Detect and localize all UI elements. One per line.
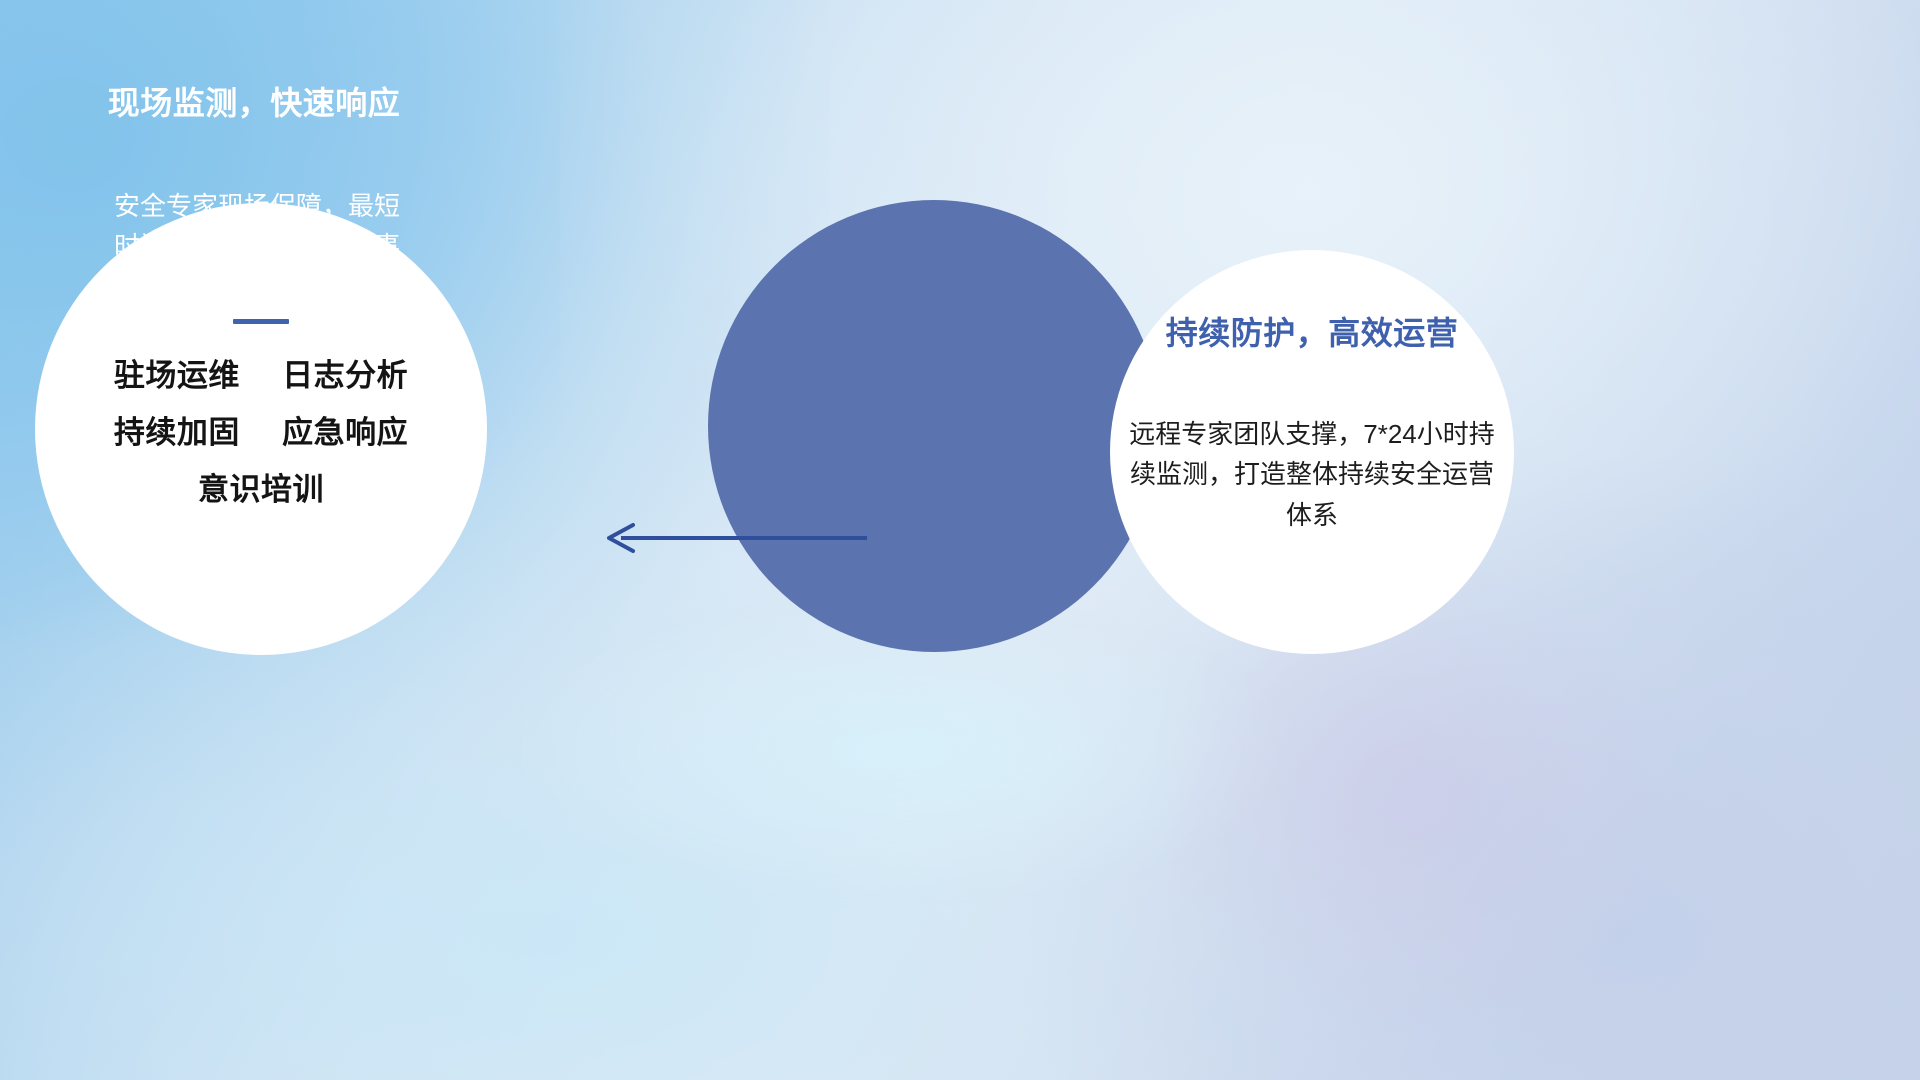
middle-feature-content: 现场监测，快速响应 安全专家现场保障，最短时间响应突发网络安全事件，将服务效率最… xyxy=(0,0,452,452)
middle-feature-circle xyxy=(708,200,1160,652)
capability-row: 意识培训 xyxy=(35,474,487,505)
slide-canvas: 驻场运维 日志分析 持续加固 应急响应 意识培训 现场监测，快速响应 安全专家现… xyxy=(0,0,1920,1080)
right-circle-title: 持续防护，高效运营 xyxy=(1166,308,1459,354)
middle-circle-title: 现场监测，快速响应 xyxy=(108,78,401,124)
flow-arrow xyxy=(595,505,875,571)
right-feature-content: 持续防护，高效运营 远程专家团队支撑，7*24小时持续监测，打造整体持续安全运营… xyxy=(1110,250,1514,654)
capability-label: 意识培训 xyxy=(198,472,324,507)
middle-circle-body: 安全专家现场保障，最短时间响应突发网络安全事件，将服务效率最大化 xyxy=(107,186,407,307)
left-arrow-icon xyxy=(595,505,875,571)
right-circle-body: 远程专家团队支撑，7*24小时持续监测，打造整体持续安全运营体系 xyxy=(1127,414,1497,535)
